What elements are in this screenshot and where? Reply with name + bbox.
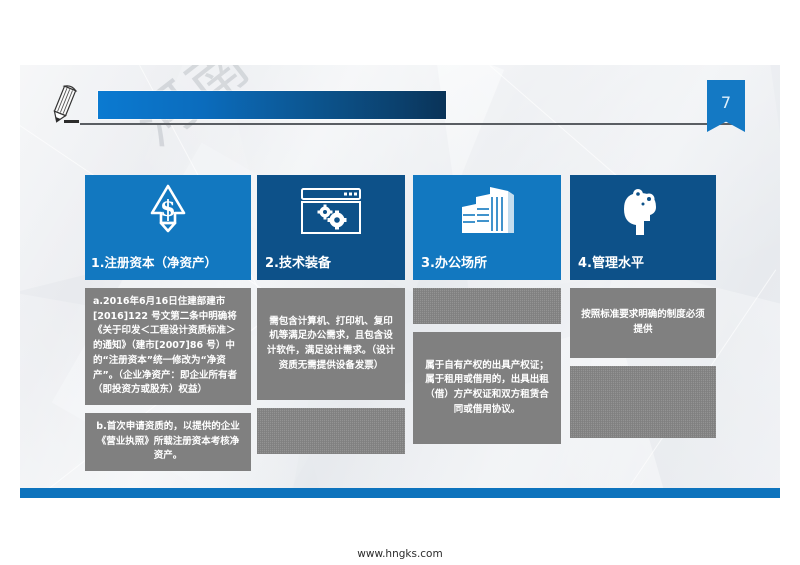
footer-url: www.hngks.com [0, 548, 800, 560]
detail-block: b.首次申请资质的，以提供的企业《营业执照》所载注册资本考核净资产。 [85, 413, 251, 471]
column-office-premises: 3.办公场所 属于自有产权的出具产权证；属于租用或借用的，出具出租（借）方产权证… [413, 175, 561, 444]
pencil-icon [42, 83, 84, 129]
detail-block: 需包含计算机、打印机、复印机等满足办公需求，且包含设计软件，满足设计需求。（设计… [257, 288, 405, 400]
browser-gears-icon [257, 181, 405, 241]
title-banner [98, 91, 446, 119]
detail-block-placeholder [257, 408, 405, 454]
card-header[interactable]: 3.办公场所 [413, 175, 561, 280]
card-header[interactable]: 2.技术装备 [257, 175, 405, 280]
slide-canvas: 河南省工程勘察设计行业协会 7 S 1.注册资本 [20, 65, 780, 498]
card-title: 3.办公场所 [413, 252, 561, 280]
dollar-down-arrow-icon: S [85, 181, 251, 241]
column-registered-capital: S 1.注册资本（净资产） a.2016年6月16日住建部建市[2016]122… [85, 175, 251, 471]
bottom-accent-bar [20, 488, 780, 498]
detail-block: a.2016年6月16日住建部建市[2016]122 号文第二条中明确将《关于印… [85, 288, 251, 405]
detail-block: 属于自有产权的出具产权证；属于租用或借用的，出具出租（借）方产权证和双方租赁合同… [413, 332, 561, 444]
card-title: 2.技术装备 [257, 252, 405, 280]
header-divider [80, 123, 735, 125]
card-title: 4.管理水平 [570, 252, 716, 280]
head-gears-icon [570, 181, 716, 241]
column-management-level: 4.管理水平 按照标准要求明确的制度必须提供 [570, 175, 716, 438]
column-technical-equipment: 2.技术装备 需包含计算机、打印机、复印机等满足办公需求，且包含设计软件，满足设… [257, 175, 405, 454]
card-header[interactable]: S 1.注册资本（净资产） [85, 175, 251, 280]
card-title: 1.注册资本（净资产） [85, 252, 251, 280]
office-building-icon [413, 181, 561, 241]
detail-block: 按照标准要求明确的制度必须提供 [570, 288, 716, 358]
detail-block-placeholder [570, 366, 716, 438]
card-header[interactable]: 4.管理水平 [570, 175, 716, 280]
detail-block-placeholder [413, 288, 561, 324]
